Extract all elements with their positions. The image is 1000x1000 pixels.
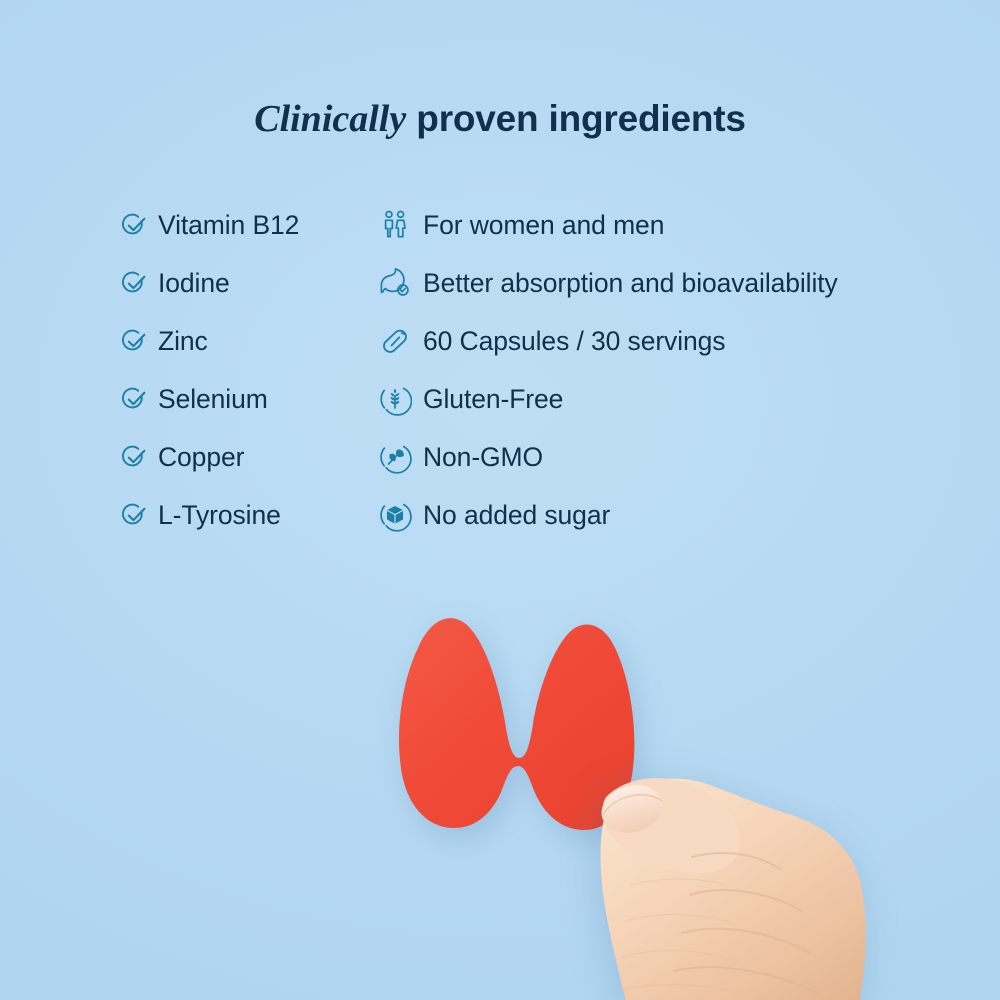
features-columns: Vitamin B12 Iodine Zinc bbox=[0, 196, 1000, 546]
list-item-label: 60 Capsules / 30 servings bbox=[423, 328, 725, 355]
check-circle-icon bbox=[122, 213, 147, 238]
sugar-cube-circle-icon bbox=[378, 498, 412, 532]
list-item-label: Copper bbox=[158, 444, 244, 471]
list-item: L-Tyrosine bbox=[122, 486, 372, 544]
page-title: Clinically proven ingredients bbox=[0, 97, 1000, 141]
hand-icon bbox=[570, 745, 1000, 1000]
list-item-label: Gluten-Free bbox=[423, 386, 563, 413]
benefits-list: For women and men Better absorption and … bbox=[378, 196, 978, 544]
list-item: Better absorption and bioavailability bbox=[378, 254, 978, 312]
list-item: For women and men bbox=[378, 196, 978, 254]
check-circle-icon bbox=[122, 387, 147, 412]
check-circle-icon bbox=[122, 329, 147, 354]
list-item: Selenium bbox=[122, 370, 372, 428]
capsule-icon bbox=[378, 324, 412, 358]
list-item: Iodine bbox=[122, 254, 372, 312]
check-circle-icon bbox=[122, 271, 147, 296]
list-item: Zinc bbox=[122, 312, 372, 370]
product-photo bbox=[0, 540, 1000, 1000]
list-item-label: For women and men bbox=[423, 212, 664, 239]
check-circle-icon bbox=[122, 445, 147, 470]
list-item-label: Selenium bbox=[158, 386, 268, 413]
list-item: Non-GMO bbox=[378, 428, 978, 486]
list-item-label: Better absorption and bioavailability bbox=[423, 270, 838, 297]
list-item: Vitamin B12 bbox=[122, 196, 372, 254]
list-item-label: L-Tyrosine bbox=[158, 502, 281, 529]
list-item-label: Zinc bbox=[158, 328, 208, 355]
leaf-circle-icon bbox=[378, 440, 412, 474]
list-item-label: Iodine bbox=[158, 270, 230, 297]
list-item: No added sugar bbox=[378, 486, 978, 544]
list-item-label: No added sugar bbox=[423, 502, 610, 529]
list-item-label: Non-GMO bbox=[423, 444, 543, 471]
list-item: Copper bbox=[122, 428, 372, 486]
two-people-icon bbox=[378, 208, 412, 242]
check-circle-icon bbox=[122, 503, 147, 528]
wheat-free-icon bbox=[378, 382, 412, 416]
list-item-label: Vitamin B12 bbox=[158, 212, 299, 239]
list-item: Gluten-Free bbox=[378, 370, 978, 428]
page-title-rest: proven ingredients bbox=[406, 98, 746, 139]
page-title-emphasis: Clinically bbox=[254, 98, 406, 140]
promo-image-root: Clinically proven ingredients Vitamin B1… bbox=[0, 0, 1000, 1000]
hand-illustration bbox=[570, 745, 1000, 1000]
ingredients-list: Vitamin B12 Iodine Zinc bbox=[122, 196, 372, 544]
list-item: 60 Capsules / 30 servings bbox=[378, 312, 978, 370]
stomach-check-icon bbox=[378, 266, 412, 300]
